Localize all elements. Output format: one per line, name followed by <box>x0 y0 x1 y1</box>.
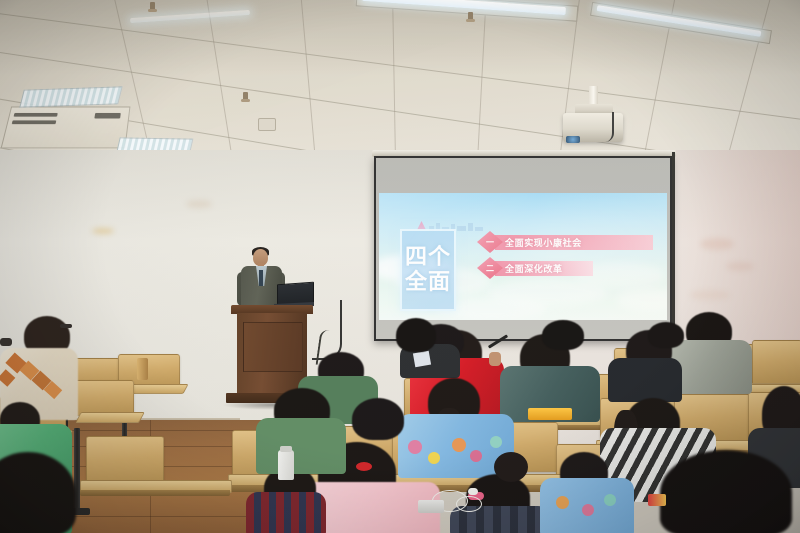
projected-slide: 四个 全面 一 全面实现小康社会 二 全面深化改革 <box>379 193 667 320</box>
water-bottle <box>278 450 294 480</box>
projector-lens-icon <box>566 136 580 143</box>
air-conditioning-vent <box>1 107 131 149</box>
recessed-light-panel <box>19 86 122 107</box>
ceiling-speaker <box>258 118 276 131</box>
travel-mug <box>137 358 148 380</box>
bottle-cap <box>280 446 292 452</box>
screen-edge <box>672 152 675 347</box>
pencil-case <box>528 408 572 420</box>
suspended-ceiling <box>0 0 800 168</box>
fire-sprinkler <box>243 92 248 101</box>
hair-tie <box>356 462 372 471</box>
lectern-front-panel <box>243 322 303 372</box>
earphones <box>456 496 482 512</box>
fire-sprinkler <box>150 2 155 11</box>
fire-sprinkler <box>468 12 473 21</box>
smartphone <box>418 500 444 513</box>
earbud <box>468 488 478 495</box>
candy-wrapper <box>648 494 666 506</box>
presenter-tie <box>259 270 263 286</box>
lecture-hall-photo: 四个 全面 一 全面实现小康社会 二 全面深化改革 <box>0 0 800 533</box>
projector-cable <box>596 112 614 142</box>
